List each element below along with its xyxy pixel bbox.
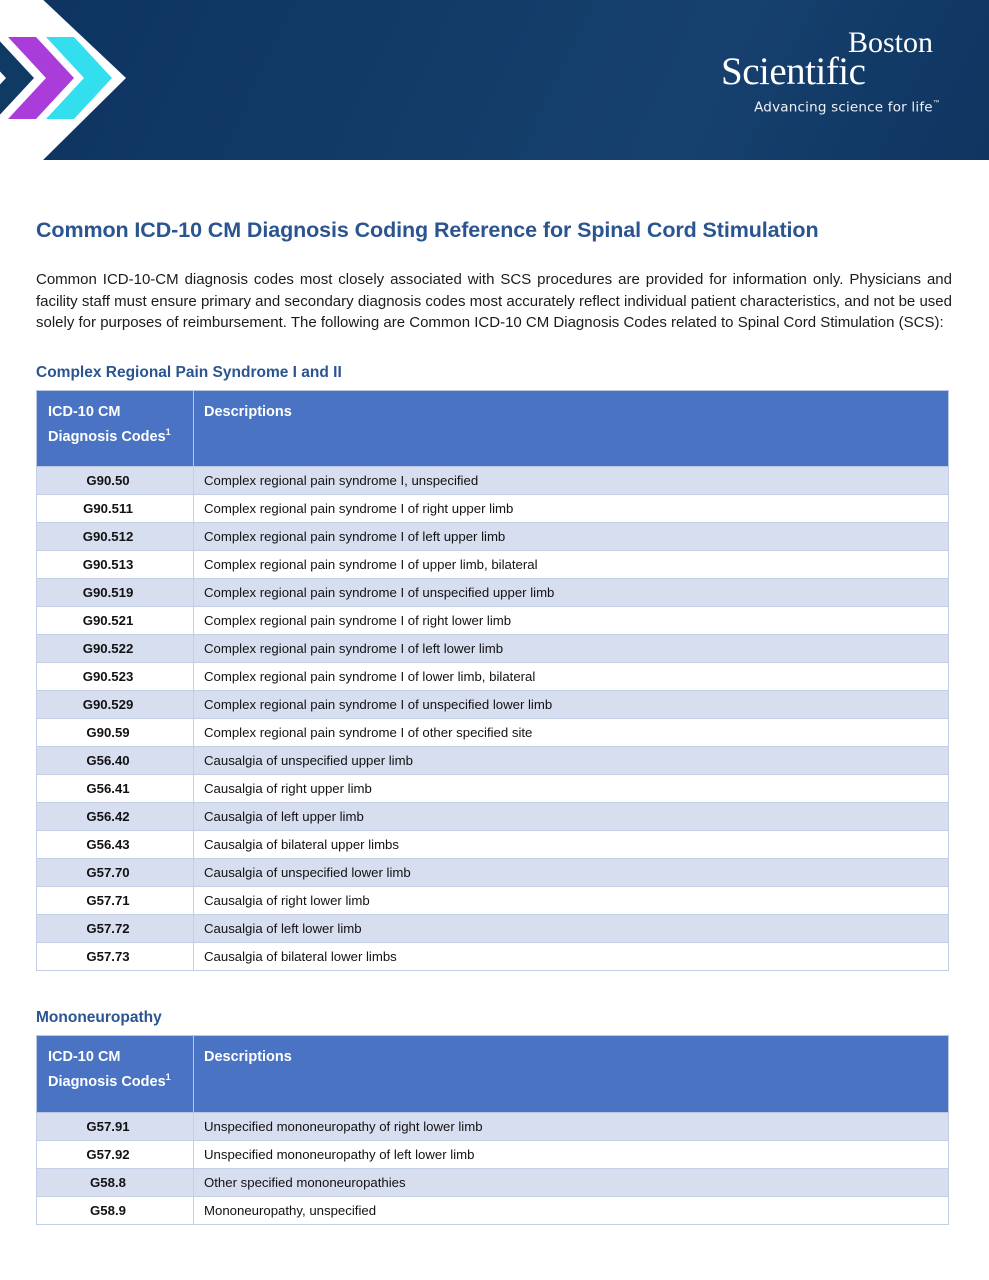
table-row: G90.512Complex regional pain syndrome I …	[37, 523, 949, 551]
table-row: G57.70Causalgia of unspecified lower lim…	[37, 859, 949, 887]
cell-description: Unspecified mononeuropathy of right lowe…	[194, 1113, 949, 1141]
cell-description: Causalgia of left lower limb	[194, 915, 949, 943]
trademark-icon: ™	[933, 99, 941, 108]
cell-description: Other specified mononeuropathies	[194, 1169, 949, 1197]
table-row: G57.92Unspecified mononeuropathy of left…	[37, 1141, 949, 1169]
table-row: G90.523Complex regional pain syndrome I …	[37, 663, 949, 691]
column-header-code: ICD-10 CM Diagnosis Codes1	[37, 390, 194, 467]
cell-diagnosis-code: G56.40	[37, 747, 194, 775]
table-row: G57.91Unspecified mononeuropathy of righ…	[37, 1113, 949, 1141]
column-header-code: ICD-10 CM Diagnosis Codes1	[37, 1036, 194, 1113]
cell-description: Complex regional pain syndrome I of righ…	[194, 495, 949, 523]
table-row: G90.513Complex regional pain syndrome I …	[37, 551, 949, 579]
cell-diagnosis-code: G57.91	[37, 1113, 194, 1141]
cell-description: Unspecified mononeuropathy of left lower…	[194, 1141, 949, 1169]
section-heading-crps: Complex Regional Pain Syndrome I and II	[36, 364, 953, 382]
brand-tagline: Advancing science for life™	[721, 100, 941, 115]
table-row: G90.511Complex regional pain syndrome I …	[37, 495, 949, 523]
cell-diagnosis-code: G90.512	[37, 523, 194, 551]
table-row: G56.41Causalgia of right upper limb	[37, 775, 949, 803]
page-content: Common ICD-10 CM Diagnosis Coding Refere…	[0, 218, 989, 1225]
cell-diagnosis-code: G90.523	[37, 663, 194, 691]
table-header-row: ICD-10 CM Diagnosis Codes1 Descriptions	[37, 1036, 949, 1113]
column-header-code-line2: Diagnosis Codes	[48, 428, 166, 444]
column-header-footnote-marker: 1	[166, 1072, 171, 1082]
table-row: G57.73Causalgia of bilateral lower limbs	[37, 943, 949, 971]
table-row: G56.43Causalgia of bilateral upper limbs	[37, 831, 949, 859]
cell-description: Causalgia of unspecified lower limb	[194, 859, 949, 887]
cell-diagnosis-code: G90.529	[37, 691, 194, 719]
column-header-descriptions: Descriptions	[194, 390, 949, 467]
cell-description: Complex regional pain syndrome I of lowe…	[194, 663, 949, 691]
cell-diagnosis-code: G57.71	[37, 887, 194, 915]
cell-diagnosis-code: G90.59	[37, 719, 194, 747]
cell-description: Mononeuropathy, unspecified	[194, 1197, 949, 1225]
cell-diagnosis-code: G90.519	[37, 579, 194, 607]
table-body-mononeuropathy: G57.91Unspecified mononeuropathy of righ…	[37, 1113, 949, 1225]
boston-scientific-chevron-logo	[0, 0, 190, 160]
cell-diagnosis-code: G58.8	[37, 1169, 194, 1197]
column-header-code-line1: ICD-10 CM	[48, 1049, 121, 1065]
table-row: G57.72Causalgia of left lower limb	[37, 915, 949, 943]
cell-diagnosis-code: G90.513	[37, 551, 194, 579]
cell-description: Causalgia of right lower limb	[194, 887, 949, 915]
intro-paragraph: Common ICD-10-CM diagnosis codes most cl…	[36, 269, 952, 334]
cell-diagnosis-code: G57.72	[37, 915, 194, 943]
cell-description: Complex regional pain syndrome I of righ…	[194, 607, 949, 635]
table-row: G58.9Mononeuropathy, unspecified	[37, 1197, 949, 1225]
table-header-crps: ICD-10 CM Diagnosis Codes1 Descriptions	[37, 390, 949, 467]
table-row: G90.522Complex regional pain syndrome I …	[37, 635, 949, 663]
cell-diagnosis-code: G90.521	[37, 607, 194, 635]
page-title: Common ICD-10 CM Diagnosis Coding Refere…	[36, 218, 953, 243]
column-header-descriptions: Descriptions	[194, 1036, 949, 1113]
cell-description: Complex regional pain syndrome I of left…	[194, 635, 949, 663]
cell-description: Causalgia of left upper limb	[194, 803, 949, 831]
cell-description: Complex regional pain syndrome I of othe…	[194, 719, 949, 747]
cell-description: Causalgia of right upper limb	[194, 775, 949, 803]
cell-diagnosis-code: G56.43	[37, 831, 194, 859]
cell-description: Complex regional pain syndrome I, unspec…	[194, 467, 949, 495]
cell-description: Complex regional pain syndrome I of left…	[194, 523, 949, 551]
table-row: G90.521Complex regional pain syndrome I …	[37, 607, 949, 635]
brand-tagline-text: Advancing science for life	[754, 100, 933, 116]
cell-diagnosis-code: G58.9	[37, 1197, 194, 1225]
codes-table-crps: ICD-10 CM Diagnosis Codes1 Descriptions …	[36, 390, 949, 972]
table-row: G56.40Causalgia of unspecified upper lim…	[37, 747, 949, 775]
table-row: G90.529Complex regional pain syndrome I …	[37, 691, 949, 719]
cell-description: Complex regional pain syndrome I of uppe…	[194, 551, 949, 579]
page-banner: Boston Scientific Advancing science for …	[0, 0, 989, 160]
codes-table-mononeuropathy: ICD-10 CM Diagnosis Codes1 Descriptions …	[36, 1035, 949, 1225]
table-row: G57.71Causalgia of right lower limb	[37, 887, 949, 915]
table-row: G90.519Complex regional pain syndrome I …	[37, 579, 949, 607]
cell-description: Causalgia of bilateral lower limbs	[194, 943, 949, 971]
table-row: G90.59Complex regional pain syndrome I o…	[37, 719, 949, 747]
column-header-code-line2: Diagnosis Codes	[48, 1074, 166, 1090]
cell-description: Causalgia of unspecified upper limb	[194, 747, 949, 775]
cell-diagnosis-code: G57.73	[37, 943, 194, 971]
cell-diagnosis-code: G90.522	[37, 635, 194, 663]
column-header-footnote-marker: 1	[166, 427, 171, 437]
cell-diagnosis-code: G90.511	[37, 495, 194, 523]
cell-diagnosis-code: G56.42	[37, 803, 194, 831]
table-row: G56.42Causalgia of left upper limb	[37, 803, 949, 831]
cell-description: Complex regional pain syndrome I of unsp…	[194, 579, 949, 607]
table-header-mononeuropathy: ICD-10 CM Diagnosis Codes1 Descriptions	[37, 1036, 949, 1113]
table-body-crps: G90.50Complex regional pain syndrome I, …	[37, 467, 949, 971]
table-header-row: ICD-10 CM Diagnosis Codes1 Descriptions	[37, 390, 949, 467]
brand-lockup: Boston Scientific Advancing science for …	[721, 28, 941, 115]
cell-description: Causalgia of bilateral upper limbs	[194, 831, 949, 859]
column-header-code-line1: ICD-10 CM	[48, 404, 121, 420]
cell-diagnosis-code: G57.92	[37, 1141, 194, 1169]
cell-diagnosis-code: G57.70	[37, 859, 194, 887]
cell-diagnosis-code: G90.50	[37, 467, 194, 495]
cell-diagnosis-code: G56.41	[37, 775, 194, 803]
table-row: G58.8Other specified mononeuropathies	[37, 1169, 949, 1197]
table-row: G90.50Complex regional pain syndrome I, …	[37, 467, 949, 495]
section-heading-mononeuropathy: Mononeuropathy	[36, 1009, 953, 1027]
cell-description: Complex regional pain syndrome I of unsp…	[194, 691, 949, 719]
